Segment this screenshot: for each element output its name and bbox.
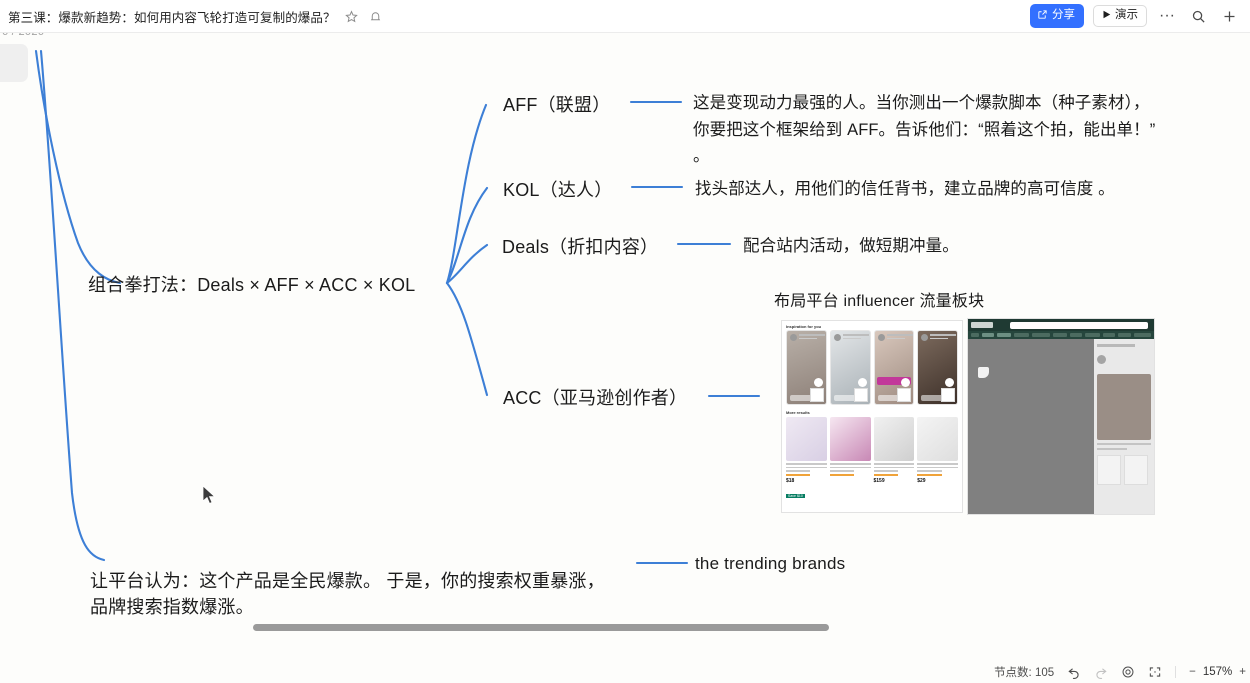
redo-icon[interactable] xyxy=(1094,665,1108,679)
amazon-creator-page-screenshot[interactable] xyxy=(967,318,1155,515)
branch-node-deals[interactable]: Deals（折扣内容） xyxy=(502,234,658,260)
zoom-out-button[interactable]: − xyxy=(1189,666,1196,678)
image-group-caption[interactable]: 布局平台 influencer 流量板块 xyxy=(774,290,984,313)
branch-node-kol[interactable]: KOL（达人） xyxy=(503,177,612,203)
top-bar: 第三课：爆款新趋势：如何用内容飞轮打造可复制的爆品？ 分享 xyxy=(0,0,1250,33)
status-divider xyxy=(1175,666,1176,678)
shot-a-reel-row xyxy=(782,330,962,405)
status-bar: 节点数: 105 − 157% + xyxy=(0,661,1250,683)
star-icon[interactable] xyxy=(344,8,360,24)
zoom-in-button[interactable]: + xyxy=(1239,666,1246,678)
bottom-node-detail[interactable]: the trending brands xyxy=(695,552,845,577)
bottom-node[interactable]: 让平台认为：这个产品是全民爆款。 于是，你的搜索权重暴涨， 品牌搜索指数爆涨。 xyxy=(90,568,630,620)
share-button[interactable]: 分享 xyxy=(1030,4,1084,29)
shot-a-heading: Inspiration for you xyxy=(782,321,962,330)
shot-b-body-overlay xyxy=(968,339,1154,515)
reel-item[interactable] xyxy=(874,330,915,405)
amazon-logo-icon xyxy=(971,322,993,328)
product-price: $29 xyxy=(917,478,958,484)
product-card[interactable]: $159 xyxy=(874,417,915,502)
shot-b-search-field[interactable] xyxy=(1010,322,1148,329)
mindmap-canvas[interactable]: 组合拳打法：Deals × AFF × ACC × KOL AFF（联盟） 这是… xyxy=(0,33,1250,650)
shot-b-header xyxy=(968,319,1154,331)
cursor-icon xyxy=(978,367,989,378)
fit-screen-icon[interactable] xyxy=(1148,665,1162,679)
plus-icon[interactable] xyxy=(1218,5,1240,27)
collapsed-side-panel[interactable] xyxy=(0,44,28,82)
detail-node-deals[interactable]: 配合站内活动，做短期冲量。 xyxy=(743,233,1143,260)
palette-icon[interactable] xyxy=(1121,665,1135,679)
present-button[interactable]: 演示 xyxy=(1093,5,1147,28)
branch-node-acc[interactable]: ACC（亚马逊创作者） xyxy=(503,385,687,411)
horizontal-scrollbar-track[interactable] xyxy=(0,620,1250,634)
branch-node-aff[interactable]: AFF（联盟） xyxy=(503,92,610,118)
external-link-icon xyxy=(1037,9,1048,24)
detail-node-aff[interactable]: 这是变现动力最强的人。当你测出一个爆款脚本（种子素材）， 你要把这个框架给到 A… xyxy=(693,90,1238,170)
more-options-button[interactable]: ··· xyxy=(1156,5,1178,27)
reel-item[interactable] xyxy=(830,330,871,405)
product-card[interactable]: $18 Save $10 xyxy=(786,417,827,502)
horizontal-scrollbar-thumb[interactable] xyxy=(253,624,829,631)
product-card[interactable] xyxy=(830,417,871,502)
zoom-level-label[interactable]: 157% xyxy=(1203,666,1232,678)
shot-a-product-row: $18 Save $10 $159 $29 xyxy=(782,417,962,502)
top-bar-left-group: 第三课：爆款新趋势：如何用内容飞轮打造可复制的爆品？ xyxy=(0,7,1030,26)
present-button-label: 演示 xyxy=(1115,10,1138,22)
mouse-pointer-icon xyxy=(203,486,216,505)
share-button-label: 分享 xyxy=(1052,10,1075,22)
product-badge: Save $10 xyxy=(786,494,805,498)
zoom-control-group: − 157% + xyxy=(1189,666,1246,678)
detail-node-kol[interactable]: 找头部达人，用他们的信任背书，建立品牌的高可信度 。 xyxy=(695,176,1195,203)
product-card[interactable]: $29 xyxy=(917,417,958,502)
undo-icon[interactable] xyxy=(1067,665,1081,679)
node-count-label: 节点数: 105 xyxy=(994,664,1054,680)
play-icon xyxy=(1102,10,1111,23)
document-title[interactable]: 第三课：爆款新趋势：如何用内容飞轮打造可复制的爆品？ xyxy=(8,7,336,26)
reel-item[interactable] xyxy=(786,330,827,405)
product-price: $159 xyxy=(874,478,915,484)
amazon-inspiration-feed-screenshot[interactable]: Inspiration for you More results xyxy=(781,320,963,513)
product-price: $18 xyxy=(786,478,827,484)
search-icon[interactable] xyxy=(1187,5,1209,27)
shot-b-navbar xyxy=(968,331,1154,339)
shot-a-subheading: More results xyxy=(782,405,962,417)
top-bar-right-group: 分享 演示 ··· xyxy=(1030,4,1250,29)
bell-icon[interactable] xyxy=(368,8,384,24)
reel-item[interactable] xyxy=(917,330,958,405)
central-node[interactable]: 组合拳打法：Deals × AFF × ACC × KOL xyxy=(88,272,415,298)
shot-b-side-panel[interactable] xyxy=(1094,339,1154,515)
